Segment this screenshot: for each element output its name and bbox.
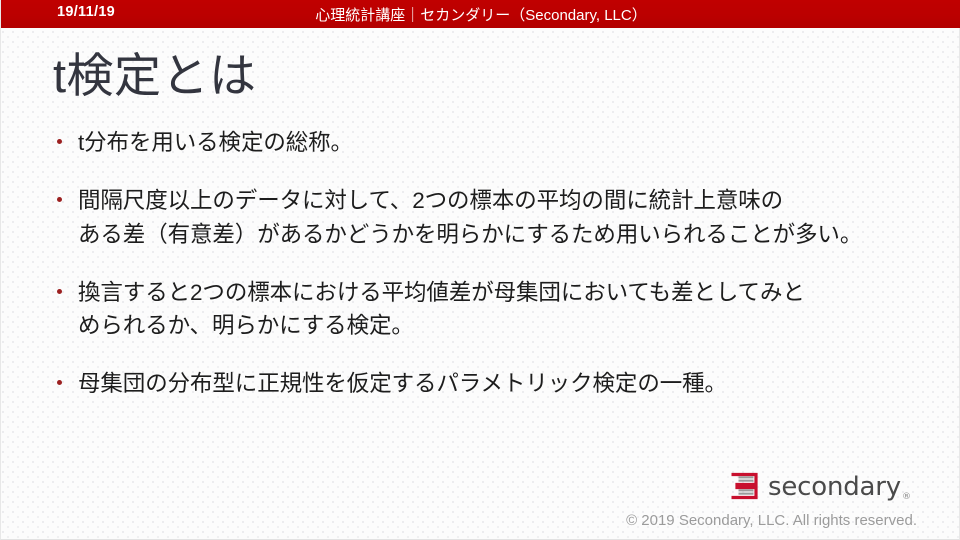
bullet-line: 換言すると2つの標本における平均値差が母集団においても差としてみと bbox=[78, 276, 929, 309]
header-bar: 19/11/19 心理統計講座｜セカンダリー（Secondary, LLC） bbox=[1, 0, 960, 28]
registered-trademark-icon: ® bbox=[902, 492, 911, 502]
book-mark-icon bbox=[727, 470, 761, 502]
bullet-dot-icon bbox=[57, 289, 62, 294]
logo-wordmark-text: secondary bbox=[768, 472, 901, 502]
secondary-logo: secondary® bbox=[727, 470, 910, 502]
list-item: 換言すると2つの標本における平均値差が母集団においても差としてみと められるか、… bbox=[49, 276, 929, 343]
logo-wordmark: secondary® bbox=[768, 474, 910, 500]
bullet-list: t分布を用いる検定の総称。 間隔尺度以上のデータに対して、2つの標本の平均の間に… bbox=[49, 126, 929, 401]
list-item: 間隔尺度以上のデータに対して、2つの標本の平均の間に統計上意味の ある差（有意差… bbox=[49, 184, 929, 251]
bullet-line: められるか、明らかにする検定。 bbox=[78, 309, 929, 342]
bullet-line: 間隔尺度以上のデータに対して、2つの標本の平均の間に統計上意味の bbox=[78, 184, 929, 217]
header-course-title: 心理統計講座｜セカンダリー（Secondary, LLC） bbox=[1, 4, 960, 25]
slide: 19/11/19 心理統計講座｜セカンダリー（Secondary, LLC） t… bbox=[0, 0, 960, 540]
bullet-dot-icon bbox=[57, 380, 62, 385]
list-item: 母集団の分布型に正規性を仮定するパラメトリック検定の一種。 bbox=[49, 367, 929, 400]
footer-copyright: © 2019 Secondary, LLC. All rights reserv… bbox=[626, 512, 917, 529]
list-item: t分布を用いる検定の総称。 bbox=[49, 126, 929, 159]
bullet-dot-icon bbox=[57, 139, 62, 144]
bullet-line: t分布を用いる検定の総称。 bbox=[78, 126, 929, 159]
bullet-line: 母集団の分布型に正規性を仮定するパラメトリック検定の一種。 bbox=[78, 367, 929, 400]
bullet-dot-icon bbox=[57, 197, 62, 202]
bullet-line: ある差（有意差）があるかどうかを明らかにするため用いられることが多い。 bbox=[78, 218, 929, 251]
page-title: t検定とは bbox=[53, 50, 257, 102]
